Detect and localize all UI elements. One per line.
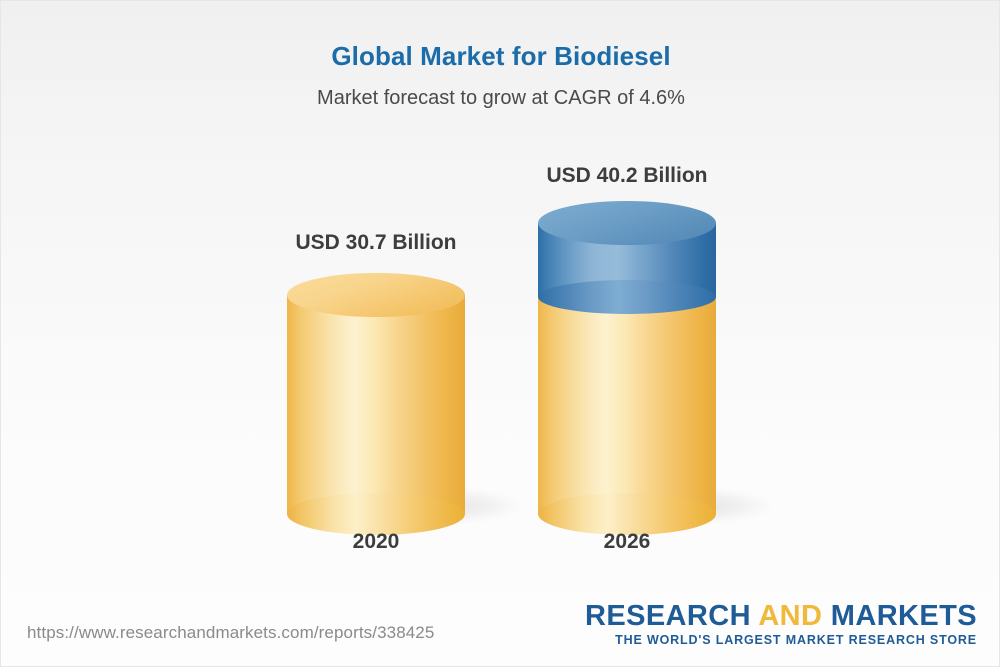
bar-top-cap-2026: [538, 201, 716, 245]
brand-logo[interactable]: RESEARCH AND MARKETS THE WORLD'S LARGEST…: [585, 601, 977, 647]
category-label-2020: 2020: [246, 530, 506, 554]
value-label-2020: USD 30.7 Billion: [246, 231, 506, 255]
brand-logo-word-and: AND: [758, 600, 822, 632]
bar-cylinder-2026[interactable]: [538, 201, 716, 514]
bar-sheen-2020: [287, 295, 465, 514]
source-url[interactable]: https://www.researchandmarkets.com/repor…: [27, 623, 434, 643]
bar-segment-base-2026: [538, 293, 716, 514]
bar-segment-junction-cap-2026: [538, 280, 716, 314]
bar-sheen-base-2026: [538, 293, 716, 514]
category-label-2026: 2026: [497, 530, 757, 554]
bar-cylinder-2020[interactable]: [287, 273, 465, 514]
chart-plot-area: USD 30.7 Billion 2020 USD 40.2 Billion: [1, 1, 1000, 601]
brand-logo-word-research: RESEARCH: [585, 600, 758, 632]
bar-bottom-cap-2020: [287, 493, 465, 535]
brand-logo-wordmark: RESEARCH AND MARKETS: [585, 601, 977, 631]
infographic-canvas: Global Market for Biodiesel Market forec…: [0, 0, 1000, 667]
bar-bottom-cap-2026: [538, 493, 716, 535]
bar-segment-base-2020: [287, 295, 465, 514]
brand-logo-word-markets: MARKETS: [822, 600, 977, 632]
value-label-2026: USD 40.2 Billion: [497, 164, 757, 188]
bar-top-cap-2020: [287, 273, 465, 317]
brand-logo-tagline: THE WORLD'S LARGEST MARKET RESEARCH STOR…: [585, 633, 977, 647]
